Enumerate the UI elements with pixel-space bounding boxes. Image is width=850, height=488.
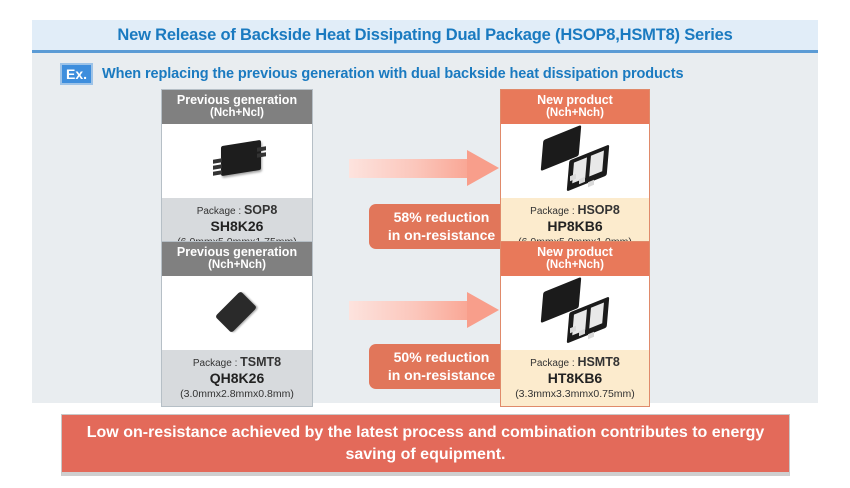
part-number: SH8K26 xyxy=(164,218,310,236)
example-caption: When replacing the previous generation w… xyxy=(102,66,683,82)
page-title: New Release of Backside Heat Dissipating… xyxy=(32,20,818,50)
card-header: Previous generation (Nch+Nch) xyxy=(162,242,312,276)
card-header: New product (Nch+Nch) xyxy=(501,90,649,124)
package-image xyxy=(501,124,649,198)
dimensions: (3.3mmx3.3mmx0.75mm) xyxy=(503,388,647,402)
right-arrow-icon xyxy=(349,150,499,186)
reduction-badge-1: 58% reduction in on-resistance xyxy=(369,204,514,249)
right-arrow-icon xyxy=(349,292,499,328)
card-header: Previous generation (Nch+Ncl) xyxy=(162,90,312,124)
content-panel: New Release of Backside Heat Dissipating… xyxy=(32,20,818,403)
previous-generation-card-2: Previous generation (Nch+Nch) Package : … xyxy=(161,241,313,407)
summary-banner: Low on-resistance achieved by the latest… xyxy=(61,414,790,476)
card-header-line1: Previous generation xyxy=(164,245,310,259)
dimensions: (3.0mmx2.8mmx0.8mm) xyxy=(164,388,310,402)
example-row: Ex. When replacing the previous generati… xyxy=(60,63,683,85)
package-line: Package : TSMT8 xyxy=(164,354,310,370)
part-number: QH8K26 xyxy=(164,370,310,388)
title-divider xyxy=(32,50,818,53)
hsop8-dual-package-icon xyxy=(536,131,614,191)
reduction-line2: in on-resistance xyxy=(388,227,495,244)
package-name: HSOP8 xyxy=(577,203,619,217)
card-header-line2: (Nch+Nch) xyxy=(503,107,647,120)
card-header: New product (Nch+Nch) xyxy=(501,242,649,276)
package-label: Package : xyxy=(530,206,577,217)
card-footer: Package : HSMT8 HT8KB6 (3.3mmx3.3mmx0.75… xyxy=(501,350,649,406)
package-label: Package : xyxy=(193,358,240,369)
reduction-line1: 50% reduction xyxy=(394,349,490,366)
package-name: TSMT8 xyxy=(240,355,281,369)
hsmt8-dual-package-icon xyxy=(536,283,614,343)
previous-generation-card-1: Previous generation (Nch+Ncl) Package : … xyxy=(161,89,313,255)
new-product-card-2: New product (Nch+Nch) Package : HSMT8 HT… xyxy=(500,241,650,407)
example-badge: Ex. xyxy=(60,63,93,85)
card-header-line2: (Nch+Ncl) xyxy=(164,107,310,120)
card-header-line2: (Nch+Nch) xyxy=(164,259,310,272)
package-line: Package : SOP8 xyxy=(164,202,310,218)
part-number: HT8KB6 xyxy=(503,370,647,388)
package-image xyxy=(501,276,649,350)
card-header-line1: Previous generation xyxy=(164,93,310,107)
package-name: HSMT8 xyxy=(577,355,619,369)
new-product-card-1: New product (Nch+Nch) Package : HSOP8 HP… xyxy=(500,89,650,255)
package-image xyxy=(162,276,312,350)
sop8-package-icon xyxy=(207,139,267,183)
package-label: Package : xyxy=(197,206,244,217)
reduction-line2: in on-resistance xyxy=(388,367,495,384)
slide-root: New Release of Backside Heat Dissipating… xyxy=(0,0,850,488)
package-line: Package : HSOP8 xyxy=(503,202,647,218)
reduction-badge-2: 50% reduction in on-resistance xyxy=(369,344,514,389)
package-name: SOP8 xyxy=(244,203,277,217)
tsmt8-package-icon xyxy=(210,291,264,335)
summary-banner-text: Low on-resistance achieved by the latest… xyxy=(62,415,789,472)
reduction-line1: 58% reduction xyxy=(394,209,490,226)
card-header-line1: New product xyxy=(503,245,647,259)
part-number: HP8KB6 xyxy=(503,218,647,236)
package-image xyxy=(162,124,312,198)
package-line: Package : HSMT8 xyxy=(503,354,647,370)
package-label: Package : xyxy=(530,358,577,369)
card-header-line1: New product xyxy=(503,93,647,107)
card-header-line2: (Nch+Nch) xyxy=(503,259,647,272)
card-footer: Package : TSMT8 QH8K26 (3.0mmx2.8mmx0.8m… xyxy=(162,350,312,406)
